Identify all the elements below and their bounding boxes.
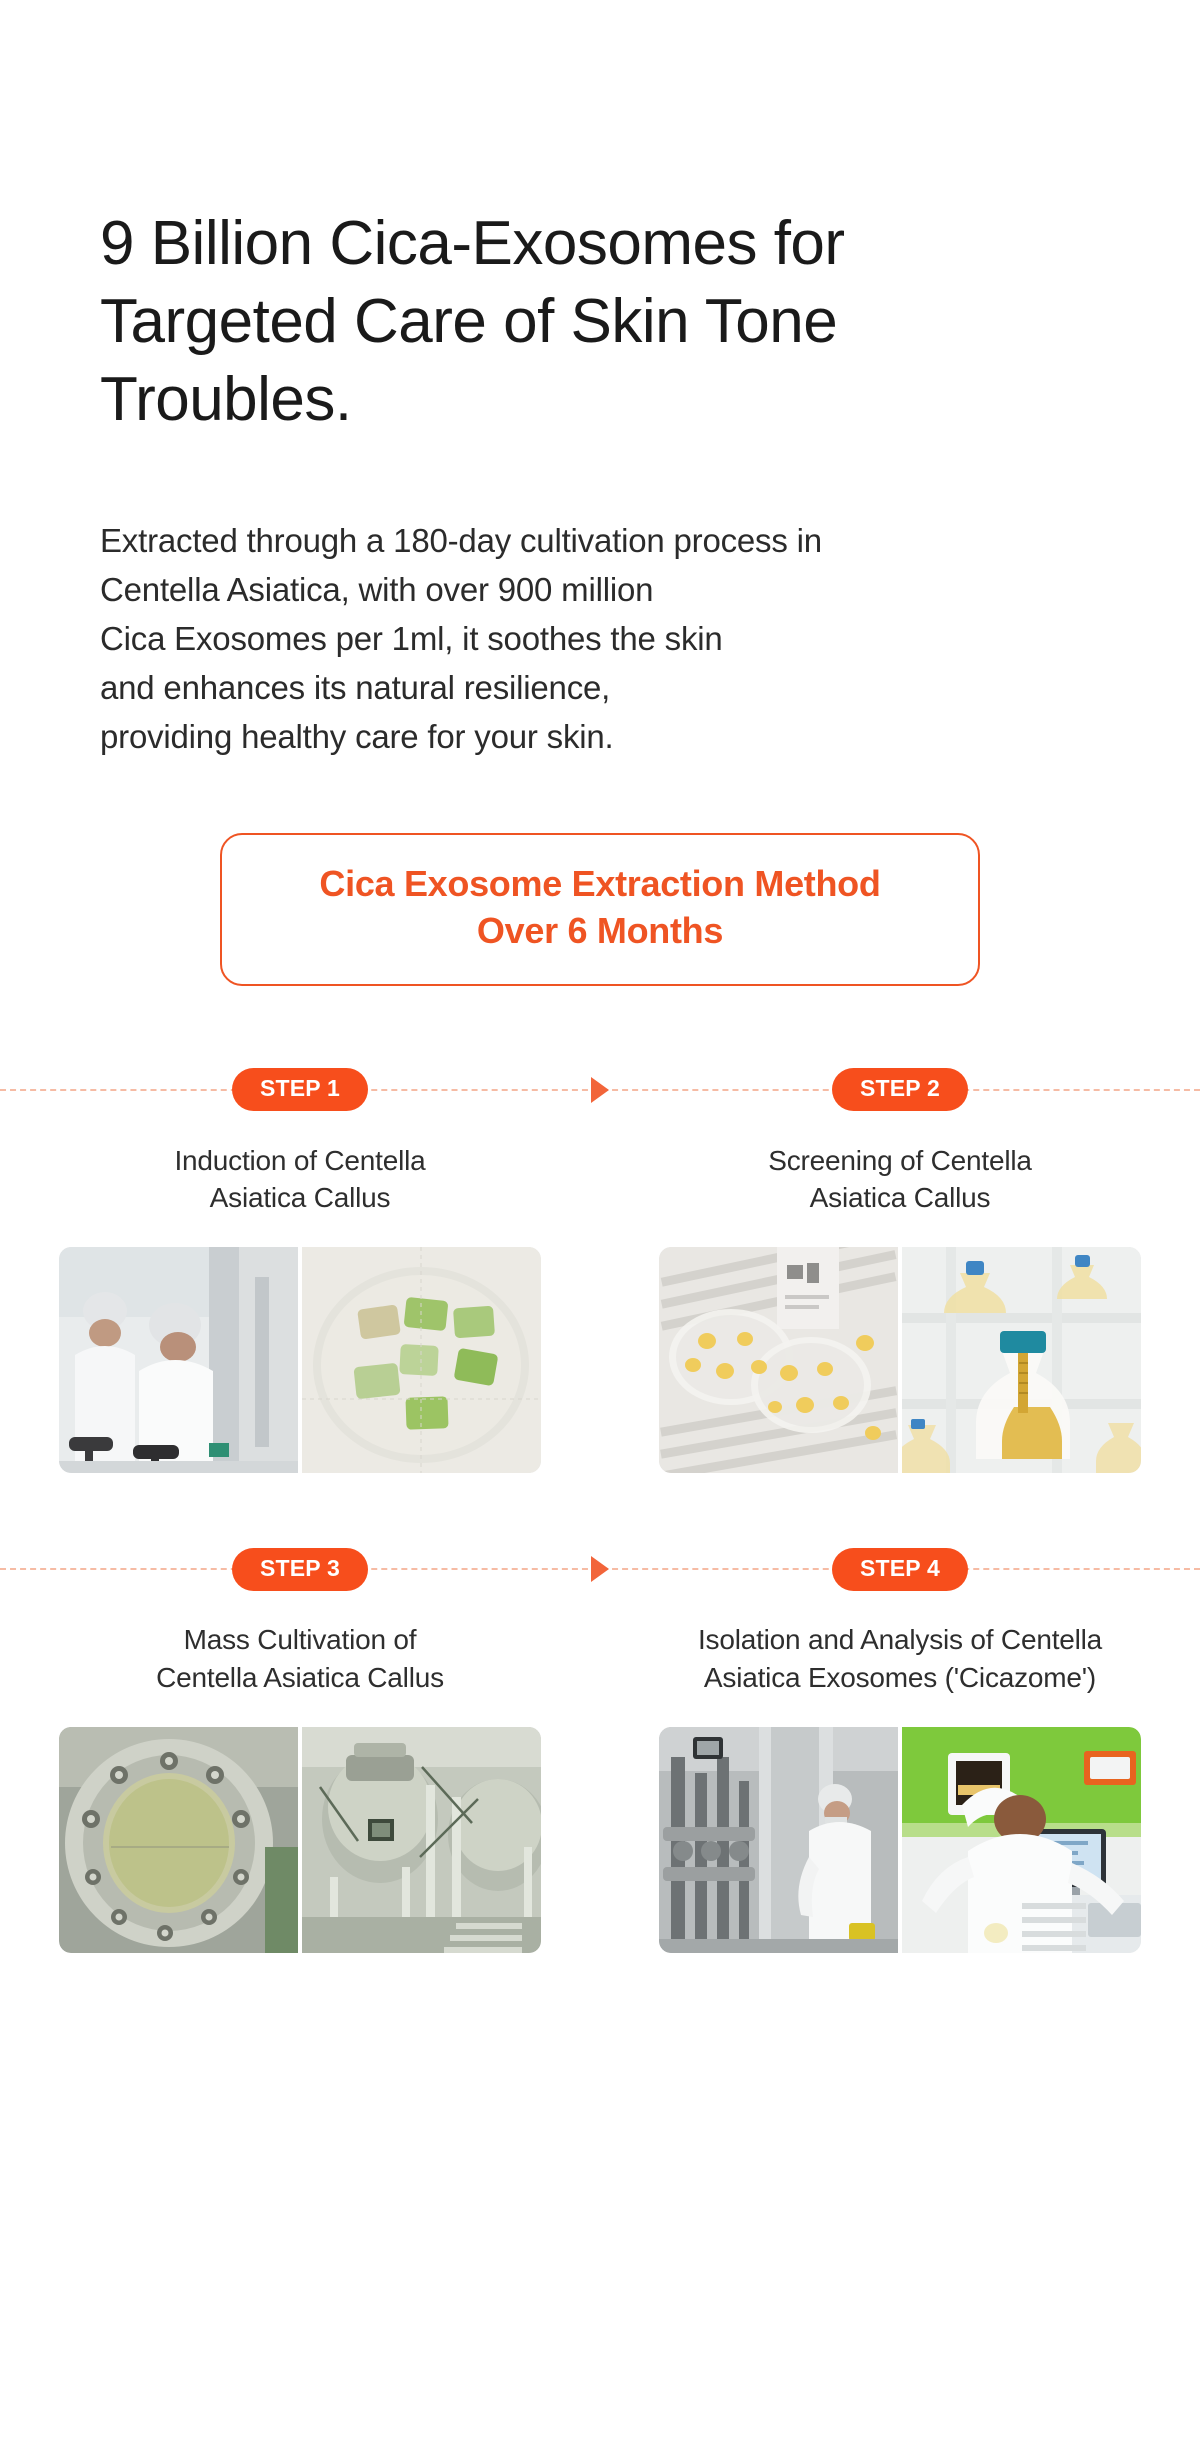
lab-technicians-at-clean-bench-photo <box>59 1247 298 1473</box>
stainless-steel-bioreactor-tanks-photo <box>302 1727 541 1953</box>
step-badge-4: STEP 4 <box>832 1548 968 1591</box>
step-caption-cell-4: Isolation and Analysis of Centella Asiat… <box>600 1621 1200 1697</box>
hero-description: Extracted through a 180-day cultivation … <box>100 517 1100 761</box>
step-row-2: STEP 3 STEP 4 Mass Cultivation of Centel… <box>0 1543 1200 1953</box>
step-badge-cell-1: STEP 1 <box>0 1064 600 1116</box>
step-caption-3: Mass Cultivation of Centella Asiatica Ca… <box>30 1621 570 1697</box>
technician-operating-process-equipment-photo <box>659 1727 898 1953</box>
petri-dishes-with-yellow-callus-colonies-photo <box>659 1247 898 1473</box>
extraction-method-callout-wrapper: Cica Exosome Extraction Method Over 6 Mo… <box>100 833 1100 985</box>
process-step-flow: STEP 1 STEP 2 Induction of Centella Asia… <box>0 1064 1200 1953</box>
page-title-line-3: Troubles. <box>100 365 352 434</box>
step-caption-4-line-2: Asiatica Exosomes ('Cicazome') <box>630 1659 1170 1697</box>
step-caption-3-line-1: Mass Cultivation of <box>30 1621 570 1659</box>
step-photo-cell-3 <box>0 1727 600 1953</box>
hero-description-line-2: Centella Asiatica, with over 900 million <box>100 566 1100 615</box>
step-2-photo-pair <box>659 1247 1141 1473</box>
step-caption-2-line-2: Asiatica Callus <box>630 1179 1170 1217</box>
hero-description-line-3: Cica Exosomes per 1ml, it soothes the sk… <box>100 615 1100 664</box>
product-detail-page: 9 Billion Cica-Exosomes for Targeted Car… <box>0 0 1200 2449</box>
extraction-method-line-2: Over 6 Months <box>266 908 934 954</box>
step-badge-1: STEP 1 <box>232 1068 368 1111</box>
petri-dish-with-green-callus-explants-photo <box>302 1247 541 1473</box>
step-photo-cell-2 <box>600 1247 1200 1473</box>
step-caption-row-1: Induction of Centella Asiatica Callus Sc… <box>0 1142 1200 1218</box>
step-caption-2-line-1: Screening of Centella <box>630 1142 1170 1180</box>
step-caption-3-line-2: Centella Asiatica Callus <box>30 1659 570 1697</box>
extraction-method-callout: Cica Exosome Extraction Method Over 6 Mo… <box>220 833 980 985</box>
step-caption-cell-3: Mass Cultivation of Centella Asiatica Ca… <box>0 1621 600 1697</box>
step-badge-cell-4: STEP 4 <box>600 1543 1200 1595</box>
step-badge-band-2: STEP 3 STEP 4 <box>0 1543 1200 1595</box>
step-photo-cell-1 <box>0 1247 600 1473</box>
step-caption-4-line-1: Isolation and Analysis of Centella <box>630 1621 1170 1659</box>
step-1-photo-pair <box>59 1247 541 1473</box>
step-caption-1-line-1: Induction of Centella <box>30 1142 570 1180</box>
culture-flasks-on-shelf-with-yellow-medium-photo <box>902 1247 1141 1473</box>
step-caption-row-2: Mass Cultivation of Centella Asiatica Ca… <box>0 1621 1200 1697</box>
researcher-at-analysis-workstation-photo <box>902 1727 1141 1953</box>
hero-section: 9 Billion Cica-Exosomes for Targeted Car… <box>0 0 1200 986</box>
step-badge-3: STEP 3 <box>232 1548 368 1591</box>
step-caption-4: Isolation and Analysis of Centella Asiat… <box>630 1621 1170 1697</box>
step-badge-cell-2: STEP 2 <box>600 1064 1200 1116</box>
step-3-photo-pair <box>59 1727 541 1953</box>
step-badge-cell-3: STEP 3 <box>0 1543 600 1595</box>
step-photo-cell-4 <box>600 1727 1200 1953</box>
hero-description-line-4: and enhances its natural resilience, <box>100 664 1100 713</box>
step-caption-1-line-2: Asiatica Callus <box>30 1179 570 1217</box>
step-caption-2: Screening of Centella Asiatica Callus <box>630 1142 1170 1218</box>
step-caption-cell-2: Screening of Centella Asiatica Callus <box>600 1142 1200 1218</box>
step-badge-band-1: STEP 1 STEP 2 <box>0 1064 1200 1116</box>
step-4-photo-pair <box>659 1727 1141 1953</box>
bioreactor-viewport-with-green-culture-photo <box>59 1727 298 1953</box>
extraction-method-line-1: Cica Exosome Extraction Method <box>266 861 934 907</box>
step-caption-cell-1: Induction of Centella Asiatica Callus <box>0 1142 600 1218</box>
page-title-line-2: Targeted Care of Skin Tone <box>100 287 837 356</box>
step-row-1: STEP 1 STEP 2 Induction of Centella Asia… <box>0 1064 1200 1474</box>
step-photo-row-1 <box>0 1247 1200 1473</box>
page-title: 9 Billion Cica-Exosomes for Targeted Car… <box>100 0 1060 439</box>
hero-description-line-5: providing healthy care for your skin. <box>100 713 1100 762</box>
page-title-line-1: 9 Billion Cica-Exosomes for <box>100 209 845 278</box>
step-photo-row-2 <box>0 1727 1200 1953</box>
step-badge-2: STEP 2 <box>832 1068 968 1111</box>
hero-description-line-1: Extracted through a 180-day cultivation … <box>100 517 1100 566</box>
step-caption-1: Induction of Centella Asiatica Callus <box>30 1142 570 1218</box>
